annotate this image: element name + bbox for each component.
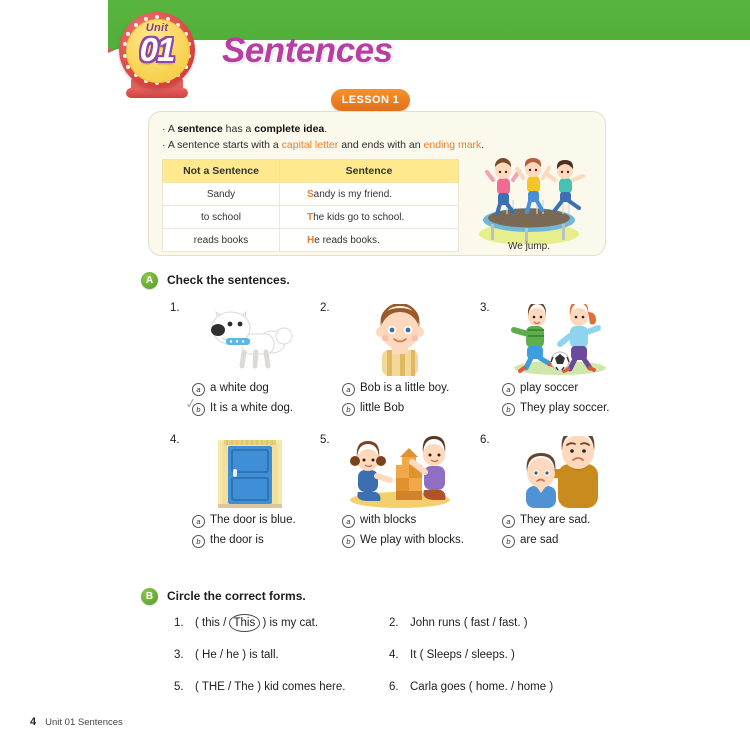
kids-playing-blocks-illustration	[344, 436, 456, 508]
option-b[interactable]: bThey play soccer.	[502, 401, 667, 416]
question-number: 4.	[170, 434, 180, 446]
item-number: 5.	[174, 681, 195, 693]
option-bullet-a[interactable]: a	[502, 383, 515, 396]
option-text: They are sad.	[520, 513, 590, 528]
option-bullet-b[interactable]: b	[342, 403, 355, 416]
question-options: aplay soccerbThey play soccer.	[502, 381, 667, 421]
footer-page-number: 4	[30, 716, 36, 728]
table-row: to schoolThe kids go to school.	[163, 206, 459, 229]
item-number: 4.	[389, 649, 410, 661]
section-b-item[interactable]: 4.It ( Sleeps / sleeps. )	[389, 649, 604, 661]
option-text: We play with blocks.	[360, 533, 464, 548]
kids-playing-soccer-illustration	[504, 304, 616, 376]
item-text: Carla goes ( home. / home )	[410, 681, 553, 693]
option-bullet-a[interactable]: a	[342, 383, 355, 396]
question-number: 2.	[320, 302, 330, 314]
question-number: 3.	[480, 302, 490, 314]
option-text: Bob is a little boy.	[360, 381, 449, 396]
section-b-row: 5.( THE / The ) kid comes here.6.Carla g…	[174, 681, 604, 693]
question-number: 6.	[480, 434, 490, 446]
sad-father-and-son-illustration	[504, 436, 616, 508]
footer-unit-text: Unit 01 Sentences	[45, 717, 123, 728]
item-number: 6.	[389, 681, 410, 693]
table-row: reads booksHe reads books.	[163, 229, 459, 252]
blue-door-illustration	[194, 436, 306, 508]
option-text: The door is blue.	[210, 513, 296, 528]
option-text: with blocks	[360, 513, 416, 528]
option-bullet-a[interactable]: a	[342, 515, 355, 528]
capital-letter: S	[307, 189, 314, 200]
item-text: ( THE / The ) kid comes here.	[195, 681, 345, 693]
grammar-box: · A sentence has a complete idea.· A sen…	[148, 111, 606, 256]
question-options: aThe door is blue.bthe door is	[192, 513, 357, 553]
table-header-row: Not a Sentence Sentence	[163, 160, 459, 183]
circled-answer: This	[230, 617, 260, 629]
section-b-item[interactable]: 5.( THE / The ) kid comes here.	[174, 681, 389, 693]
option-text: little Bob	[360, 401, 404, 416]
cell-sentence: The kids go to school.	[280, 206, 459, 229]
question-options: aThey are sad.bare sad	[502, 513, 667, 553]
option-text: It is a white dog.	[210, 401, 293, 416]
question-number: 1.	[170, 302, 180, 314]
section-b-item[interactable]: 1.( this / This ) is my cat.	[174, 617, 389, 629]
option-b[interactable]: blittle Bob	[342, 401, 507, 416]
option-a[interactable]: aThey are sad.	[502, 513, 667, 528]
section-a-title: Check the sentences.	[167, 273, 290, 287]
page-title: Sentences	[222, 31, 393, 71]
option-a[interactable]: aplay soccer	[502, 381, 667, 396]
option-text: play soccer	[520, 381, 578, 396]
question-options: aa white dog✓bIt is a white dog.	[192, 381, 357, 421]
table-row: SandySandy is my friend.	[163, 183, 459, 206]
option-b[interactable]: ✓bIt is a white dog.	[192, 401, 357, 416]
page-footer: 4 Unit 01 Sentences	[30, 716, 123, 728]
question-options: aBob is a little boy.blittle Bob	[342, 381, 507, 421]
option-a[interactable]: awith blocks	[342, 513, 507, 528]
section-b-item[interactable]: 2.John runs ( fast / fast. )	[389, 617, 604, 629]
section-b-item[interactable]: 3.( He / he ) is tall.	[174, 649, 389, 661]
item-number: 2.	[389, 617, 410, 629]
option-bullet-a[interactable]: a	[502, 515, 515, 528]
item-text: It ( Sleeps / sleeps. )	[410, 649, 515, 661]
grammar-rule: · A sentence starts with a capital lette…	[162, 137, 592, 153]
option-bullet-b[interactable]: b	[502, 535, 515, 548]
table-body: SandySandy is my friend.to schoolThe kid…	[163, 183, 459, 252]
cell-not-a-sentence: to school	[163, 206, 280, 229]
option-text: are sad	[520, 533, 558, 548]
option-bullet-a[interactable]: a	[192, 515, 205, 528]
cell-sentence: Sandy is my friend.	[280, 183, 459, 206]
option-text: They play soccer.	[520, 401, 609, 416]
section-b-row: 3.( He / he ) is tall.4.It ( Sleeps / sl…	[174, 649, 604, 661]
item-text: John runs ( fast / fast. )	[410, 617, 528, 629]
section-b-item[interactable]: 6.Carla goes ( home. / home )	[389, 681, 604, 693]
section-b-badge: B	[141, 588, 158, 605]
grammar-rule: · A sentence has a complete idea.	[162, 121, 592, 137]
item-number: 3.	[174, 649, 195, 661]
banner-white-mask-left	[0, 0, 108, 62]
section-b-title: Circle the correct forms.	[167, 589, 306, 603]
lesson-badge: LESSON 1	[331, 89, 410, 111]
grammar-rules: · A sentence has a complete idea.· A sen…	[162, 121, 592, 153]
option-text: the door is	[210, 533, 264, 548]
option-bullet-b[interactable]: b	[502, 403, 515, 416]
section-b-row: 1.( this / This ) is my cat.2.John runs …	[174, 617, 604, 629]
pencil-check-mark: ✓	[184, 395, 200, 411]
option-text: a white dog	[210, 381, 269, 396]
section-b-list: 1.( this / This ) is my cat.2.John runs …	[174, 617, 604, 713]
option-b[interactable]: bWe play with blocks.	[342, 533, 507, 548]
option-bullet-b[interactable]: b	[342, 535, 355, 548]
cell-not-a-sentence: reads books	[163, 229, 280, 252]
option-a[interactable]: aThe door is blue.	[192, 513, 357, 528]
item-text: ( He / he ) is tall.	[195, 649, 279, 661]
item-text: ( this / This ) is my cat.	[195, 617, 318, 629]
kids-jumping-on-trampoline-illustration	[467, 158, 591, 246]
section-a-badge: A	[141, 272, 158, 289]
option-b[interactable]: bare sad	[502, 533, 667, 548]
question-options: awith blocksbWe play with blocks.	[342, 513, 507, 553]
table-header-not-a-sentence: Not a Sentence	[163, 160, 280, 183]
item-number: 1.	[174, 617, 195, 629]
option-bullet-b[interactable]: b	[192, 535, 205, 548]
sentence-comparison-table: Not a Sentence Sentence SandySandy is my…	[162, 159, 459, 252]
cell-sentence: He reads books.	[280, 229, 459, 252]
table-header-sentence: Sentence	[280, 160, 459, 183]
white-dog-illustration	[194, 304, 306, 376]
option-a[interactable]: aBob is a little boy.	[342, 381, 507, 396]
boy-portrait-illustration	[344, 304, 456, 376]
illustration-caption: We jump.	[467, 241, 591, 252]
option-a[interactable]: aa white dog	[192, 381, 357, 396]
unit-number: 01	[113, 31, 201, 69]
unit-medallion: Unit 01	[113, 10, 201, 102]
option-b[interactable]: bthe door is	[192, 533, 357, 548]
question-number: 5.	[320, 434, 330, 446]
cell-not-a-sentence: Sandy	[163, 183, 280, 206]
